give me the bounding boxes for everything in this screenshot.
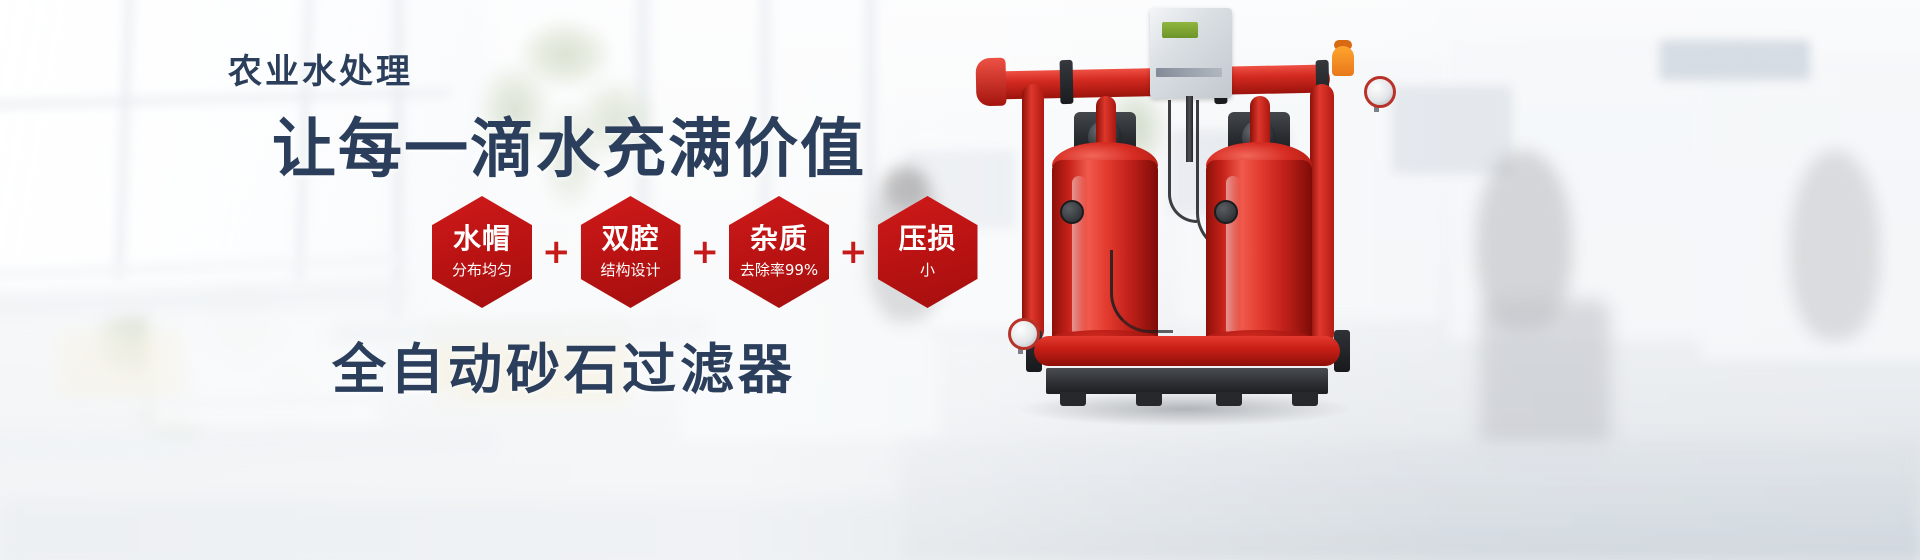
plus-separator-icon: + [691, 235, 720, 269]
badge-title: 压损 [898, 224, 956, 253]
tank-inspection-port [1060, 200, 1084, 224]
left-riser-pipe [1022, 84, 1044, 342]
pipe-bell-end [976, 58, 1007, 107]
badge-title: 水帽 [453, 224, 511, 253]
badge-title: 杂质 [750, 224, 808, 253]
promo-banner: 农业水处理 让每一滴水充满价值 全自动砂石过滤器 水帽 分布均匀 + 双腔 结构… [0, 0, 1920, 560]
pressure-gauge-icon [1008, 318, 1040, 350]
pressure-gauge-icon [1364, 76, 1396, 108]
control-wire [1168, 100, 1197, 223]
feature-badge-dual-chamber: 双腔 结构设计 [581, 196, 681, 308]
plus-separator-icon: + [839, 235, 868, 269]
lower-manifold-pipe [1034, 336, 1340, 366]
headline-text: 让每一滴水充满价值 [272, 98, 866, 190]
filter-tank-right [1206, 160, 1312, 346]
feature-badge-row: 水帽 分布均匀 + 双腔 结构设计 + 杂质 去除率99% + 压损 小 [432, 196, 978, 308]
product-name-text: 全自动砂石过滤器 [332, 325, 796, 404]
badge-subtitle: 小 [920, 259, 935, 280]
right-riser-pipe [1310, 84, 1334, 346]
badge-subtitle: 分布均匀 [452, 259, 512, 280]
air-release-valve [1332, 46, 1354, 76]
badge-subtitle: 结构设计 [600, 259, 660, 280]
hexagon-shape: 杂质 去除率99% [729, 196, 829, 308]
hexagon-shape: 双腔 结构设计 [581, 196, 681, 308]
controller-screen [1162, 22, 1198, 38]
eyebrow-text: 农业水处理 [228, 44, 413, 93]
badge-title: 双腔 [601, 224, 659, 253]
equipment-base-skid [1046, 368, 1328, 394]
feature-badge-water-cap: 水帽 分布均匀 [432, 196, 532, 308]
badge-subtitle: 去除率99% [740, 259, 818, 280]
plus-separator-icon: + [542, 235, 571, 269]
controller-brand-label [1156, 68, 1222, 77]
product-photo-sand-filter [960, 0, 1440, 460]
hexagon-shape: 水帽 分布均匀 [432, 196, 532, 308]
feature-badge-impurity: 杂质 去除率99% [729, 196, 829, 308]
tank-inspection-port [1214, 200, 1238, 224]
